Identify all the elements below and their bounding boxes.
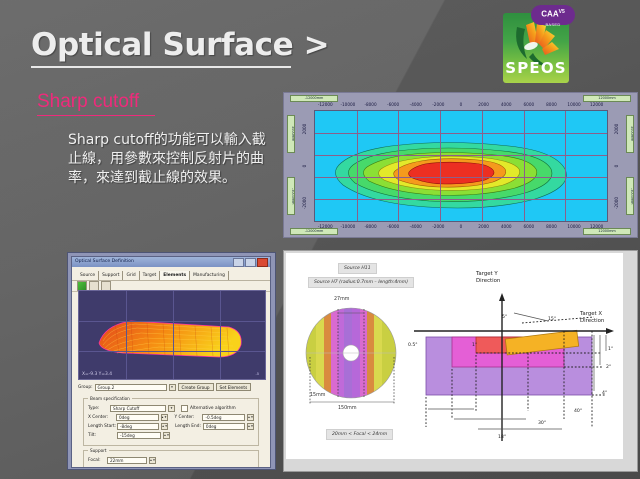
x-center-label: X Center:	[88, 415, 114, 420]
contour-x-tick: -4000	[410, 102, 422, 107]
speos-logo: SPEOS CAAV5 BASED	[503, 5, 575, 83]
contour-x-tick: 10000	[567, 224, 580, 229]
logo-text: SPEOS	[503, 59, 569, 77]
tab-source[interactable]: Source	[77, 271, 99, 280]
contour-x-tick: 12000	[590, 102, 603, 107]
caa-badge-text: CAA	[541, 10, 558, 19]
length-start-stepper[interactable]: ▲▼	[161, 423, 168, 430]
angle-30-label: 30°	[538, 421, 546, 426]
contour-tag-left-lower: -3000mm	[287, 177, 295, 215]
support-group: Support Focal: 22mm ▲▼	[83, 450, 259, 468]
viewport-coordinate-readout: X=-9.3 Y=3.4	[82, 372, 112, 377]
contour-tag-left-upper: 3000mm	[287, 115, 295, 153]
angle-1-left-label: 1°	[472, 343, 477, 348]
target-x-direction-label: Target XDirection	[580, 311, 604, 325]
contour-x-tick: 8000	[546, 102, 557, 107]
support-group-title: Support	[88, 448, 109, 453]
contour-gridline	[315, 177, 607, 178]
lens-width-label: 27mm	[334, 297, 349, 302]
contour-x-tick: 8000	[546, 224, 557, 229]
length-start-input[interactable]: -8deg	[117, 423, 159, 430]
set-elements-button[interactable]: Set Elements	[216, 383, 252, 391]
contour-x-tick: -4000	[410, 224, 422, 229]
tab-target[interactable]: Target	[140, 271, 161, 280]
contour-plot-area	[314, 110, 608, 222]
optical-surface-dialog-screenshot: Optical Surface Definition SourceSupport…	[67, 252, 276, 470]
tab-grid[interactable]: Grid	[123, 271, 139, 280]
beam-specification-group: Beam specification Type: Sharp Cutoff ▼ …	[83, 398, 259, 446]
contour-x-tick: 2000	[478, 102, 489, 107]
contour-x-tick: -10000	[341, 224, 356, 229]
dialog-tabs: SourceSupportGridTargetElementsManufactu…	[72, 267, 270, 281]
contour-x-tick: -12000	[318, 224, 333, 229]
contour-gridline	[524, 111, 525, 221]
y-center-stepper[interactable]: ▲▼	[247, 414, 254, 421]
contour-y-tick: 2000	[614, 123, 619, 134]
y-center-input[interactable]: -0.5deg	[202, 414, 245, 421]
contour-y-tick: 0	[302, 165, 307, 168]
dialog-window: Optical Surface Definition SourceSupport…	[71, 256, 271, 468]
angle-18-label: 18°	[498, 435, 506, 440]
type-select[interactable]: Sharp Cutoff	[110, 405, 166, 412]
tab-elements[interactable]: Elements	[160, 271, 190, 280]
lens-inner-label: 15mm	[310, 393, 325, 398]
slide-canvas: Optical Surface > Sharp cutoff Sharp cut…	[0, 0, 640, 479]
contour-x-tick: 12000	[590, 224, 603, 229]
contour-x-tick: 6000	[524, 102, 535, 107]
contour-x-tick: 2000	[478, 224, 489, 229]
window-controls	[233, 258, 268, 267]
page-title: Optical Surface >	[31, 27, 329, 63]
contour-plot-panel: -12000mm 12000mm -12000mm 12000mm 3000mm…	[283, 92, 638, 238]
note-source-h11: Source H11	[338, 263, 377, 274]
length-start-label: Length Start:	[88, 424, 115, 429]
diagram-canvas: Source H11 Source H7 (radius:0.7mm – len…	[286, 253, 623, 459]
note-source-h7: Source H7 (radius:0.7mm – length:4mm)	[308, 277, 414, 288]
caa-badge-sub: BASED	[531, 20, 575, 30]
body-text: Sharp cutoff的功能可以輸入截止線，用參數來控制反射片的曲率，來達到截…	[68, 131, 266, 188]
title-underline	[31, 66, 291, 68]
length-end-input[interactable]: 0deg	[203, 423, 245, 430]
angle-4-label: 4°	[602, 391, 607, 396]
subtitle-underline	[37, 115, 155, 116]
group-dropdown-chevron-down-icon[interactable]: ▼	[169, 384, 176, 391]
contour-x-tick: 0	[460, 224, 463, 229]
contour-x-tick: -8000	[364, 224, 376, 229]
note-focal-range: 20mm < Focal < 24mm	[326, 429, 393, 440]
angle-2-label: 2°	[606, 365, 611, 370]
contour-gridline	[565, 111, 566, 221]
contour-gridline	[482, 111, 483, 221]
contour-x-tick: 6000	[524, 224, 535, 229]
contour-y-tick: 0	[614, 165, 619, 168]
contour-x-tick: -2000	[432, 102, 444, 107]
subtitle: Sharp cutoff	[37, 91, 139, 113]
close-icon[interactable]	[257, 258, 268, 267]
maximize-button[interactable]	[245, 258, 256, 267]
caa-badge: CAAV5 BASED	[531, 5, 575, 25]
angle-5-label: 5°	[502, 315, 507, 320]
contour-tag-right-upper: 3000mm	[626, 115, 634, 153]
tab-support[interactable]: Support	[99, 271, 123, 280]
contour-x-tick: 0	[460, 102, 463, 107]
contour-x-tick: 4000	[501, 224, 512, 229]
length-end-stepper[interactable]: ▲▼	[247, 423, 254, 430]
tilt-input[interactable]: -15deg	[117, 432, 161, 439]
tab-manufacturing[interactable]: Manufacturing	[190, 271, 229, 280]
contour-x-tick: -12000	[318, 102, 333, 107]
minimize-button[interactable]	[233, 258, 244, 267]
contour-gridline	[357, 111, 358, 221]
x-center-stepper[interactable]: ▲▼	[161, 414, 168, 421]
viewport-axis-label: -5	[255, 371, 259, 376]
dialog-title-text: Optical Surface Definition	[75, 259, 134, 264]
contour-gridline	[440, 111, 441, 221]
contour-x-tick: -2000	[432, 224, 444, 229]
length-end-label: Length End:	[175, 424, 201, 429]
angle-15-label: 15°	[548, 317, 556, 322]
group-select[interactable]: Group.2	[95, 384, 167, 391]
contour-x-tick: -10000	[341, 102, 356, 107]
contour-y-tick: -2000	[302, 197, 307, 209]
dialog-titlebar: Optical Surface Definition	[72, 257, 270, 267]
contour-x-tick: 10000	[567, 102, 580, 107]
angle-1-right-label: 1°	[608, 347, 613, 352]
focal-input[interactable]: 22mm	[107, 457, 147, 464]
3d-viewport[interactable]: X=-9.3 Y=3.4 -5	[78, 290, 266, 380]
contour-tag-right-lower: -3000mm	[626, 177, 634, 215]
contour-x-tick: 4000	[501, 102, 512, 107]
alternative-algorithm-checkbox[interactable]	[181, 405, 188, 412]
contour-levels	[315, 111, 607, 221]
target-y-direction-label: Target YDirection	[476, 271, 500, 285]
angle-0-5-label: 0.5°	[408, 343, 418, 348]
x-center-input[interactable]: 0deg	[116, 414, 159, 421]
contour-y-tick: 2000	[302, 123, 307, 134]
optical-diagram-panel: Source H11 Source H7 (radius:0.7mm – len…	[283, 250, 638, 472]
beam-specification-title: Beam specification	[88, 396, 132, 401]
tilt-label: Tilt:	[88, 433, 115, 438]
lens-diameter-label: 150mm	[338, 406, 357, 411]
focal-stepper[interactable]: ▲▼	[149, 457, 156, 464]
type-dropdown-chevron-down-icon[interactable]: ▼	[168, 405, 175, 412]
angle-40-label: 40°	[574, 409, 582, 414]
focal-label: Focal:	[88, 458, 105, 463]
contour-gridline	[315, 155, 607, 156]
contour-x-tick: -6000	[387, 224, 399, 229]
caa-badge-version: V5	[559, 9, 565, 15]
contour-x-tick: -6000	[387, 102, 399, 107]
alternative-algorithm-label: Alternative algorithm	[190, 406, 236, 411]
contour-gridline	[398, 111, 399, 221]
group-label: Group:	[78, 385, 93, 390]
contour-gridline	[315, 199, 607, 200]
contour-x-tick: -8000	[364, 102, 376, 107]
type-label: Type:	[88, 406, 108, 411]
contour-gridline	[315, 133, 607, 134]
contour-y-tick: -2000	[614, 197, 619, 209]
y-center-label: Y Center:	[175, 415, 201, 420]
create-group-button[interactable]: Create Group	[178, 383, 214, 391]
tilt-stepper[interactable]: ▲▼	[163, 432, 170, 439]
